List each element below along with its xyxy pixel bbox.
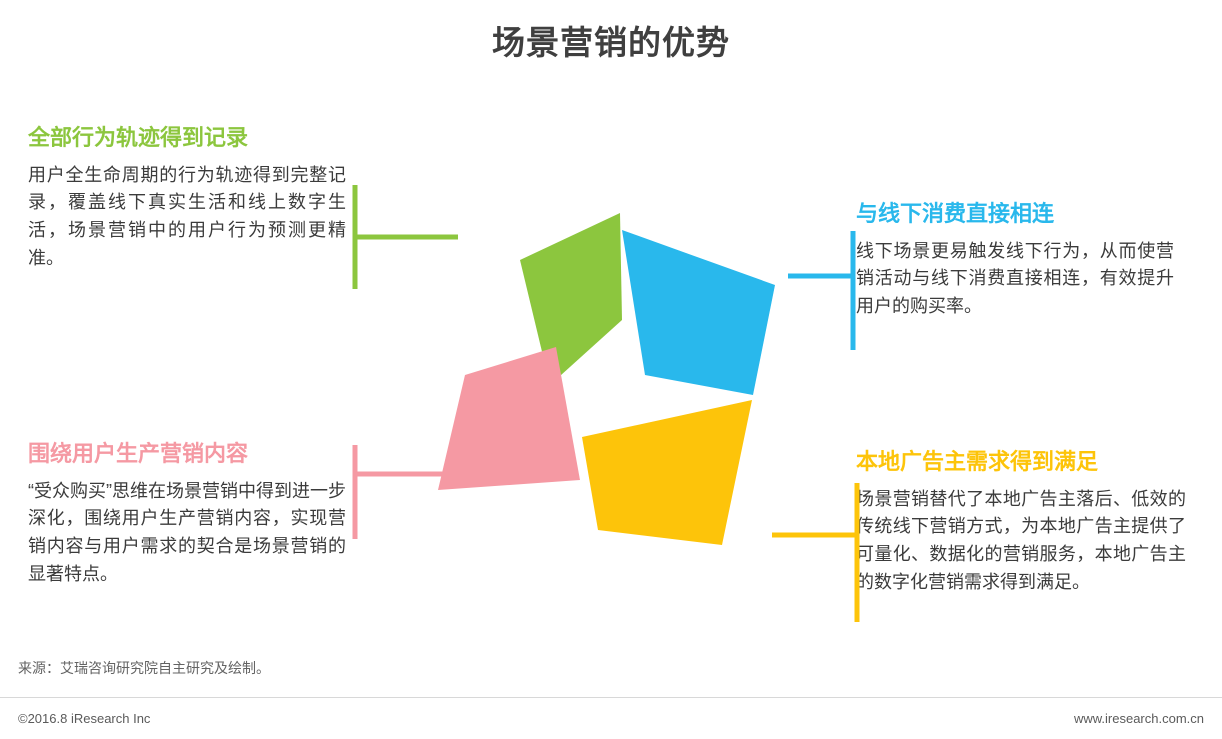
pinwheel-diagram [430, 185, 800, 575]
advantage-heading-top-left: 全部行为轨迹得到记录 [28, 124, 346, 152]
page-title: 场景营销的优势 [0, 16, 1222, 64]
footer-divider [0, 697, 1222, 698]
advantage-heading-bottom-left: 围绕用户生产营销内容 [28, 440, 346, 468]
advantage-body-bottom-right: 场景营销替代了本地广告主落后、低效的传统线下营销方式，为本地广告主提供了可量化、… [856, 486, 1186, 598]
petal-pink [438, 347, 580, 490]
advantage-block-top-right: 与线下消费直接相连 线下场景更易触发线下行为，从而使营销活动与线下消费直接相连，… [856, 200, 1174, 321]
advantage-block-top-left: 全部行为轨迹得到记录 用户全生命周期的行为轨迹得到完整记录，覆盖线下真实生活和线… [28, 124, 346, 273]
website-text: www.iresearch.com.cn [1074, 711, 1204, 726]
advantage-body-top-right: 线下场景更易触发线下行为，从而使营销活动与线下消费直接相连，有效提升用户的购买率… [856, 238, 1174, 322]
source-note: 来源：艾瑞咨询研究院自主研究及绘制。 [18, 658, 270, 678]
advantage-heading-top-right: 与线下消费直接相连 [856, 200, 1174, 228]
petal-yellow [582, 400, 752, 545]
advantage-body-bottom-left: “受众购买”思维在场景营销中得到进一步深化，围绕用户生产营销内容，实现营销内容与… [28, 478, 346, 590]
infographic-page: 场景营销的优势 全部行为轨迹得到记录 用户全生命周期的行为轨迹得到完整记录，覆盖… [0, 0, 1222, 739]
petal-blue [622, 230, 775, 395]
advantage-block-bottom-right: 本地广告主需求得到满足 场景营销替代了本地广告主落后、低效的传统线下营销方式，为… [856, 448, 1186, 597]
advantage-block-bottom-left: 围绕用户生产营销内容 “受众购买”思维在场景营销中得到进一步深化，围绕用户生产营… [28, 440, 346, 589]
advantage-body-top-left: 用户全生命周期的行为轨迹得到完整记录，覆盖线下真实生活和线上数字生活，场景营销中… [28, 162, 346, 274]
copyright-text: ©2016.8 iResearch Inc [18, 711, 150, 726]
advantage-heading-bottom-right: 本地广告主需求得到满足 [856, 448, 1186, 476]
